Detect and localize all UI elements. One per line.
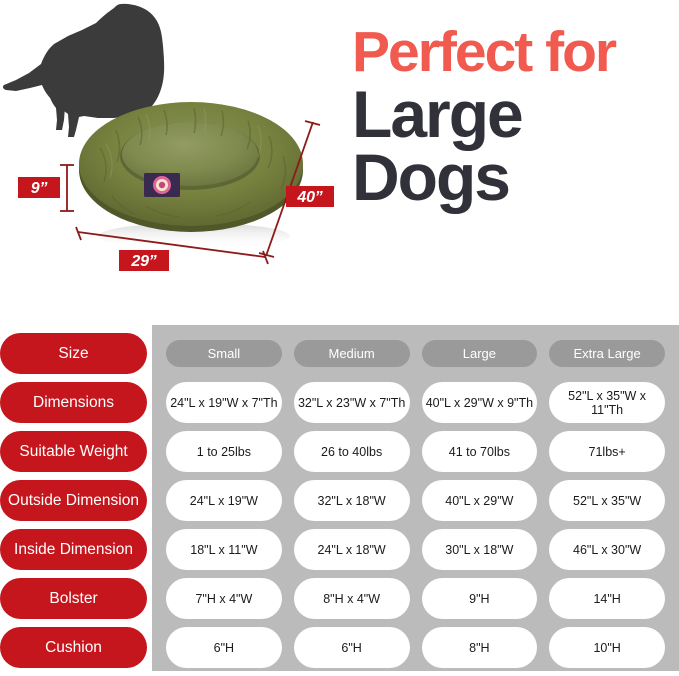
headline-block: Perfect for Large Dogs [352,26,674,208]
cell-cushion-large: 8"H [422,627,538,668]
dog-bed-product-image [76,78,306,253]
headline-line-3: Dogs [352,147,674,208]
column-header-large: Large [422,340,538,367]
cell-inside-large: 30"L x 18"W [422,529,538,570]
spec-row-suitable-weight: 1 to 25lbs 26 to 40lbs 41 to 70lbs 71lbs… [152,431,679,472]
row-label-inside-dimension: Inside Dimension [0,529,147,570]
cell-cushion-small: 6"H [166,627,282,668]
cell-inside-extra-large: 46"L x 30"W [549,529,665,570]
column-header-small: Small [166,340,282,367]
cell-weight-small: 1 to 25lbs [166,431,282,472]
cell-cushion-extra-large: 10"H [549,627,665,668]
cell-dimensions-medium: 32"L x 23"W x 7"Th [294,382,410,423]
spec-row-cushion: 6"H 6"H 8"H 10"H [152,627,679,668]
row-label-suitable-weight: Suitable Weight [0,431,147,472]
spec-value-grid: Small Medium Large Extra Large 24"L x 19… [152,333,679,676]
brand-tag-logo [143,169,181,201]
cell-outside-medium: 32"L x 18"W [294,480,410,521]
cell-bolster-large: 9"H [422,578,538,619]
callout-bed-width: 40” [286,186,334,207]
row-label-bolster: Bolster [0,578,147,619]
size-spec-table: Size Dimensions Suitable Weight Outside … [0,325,679,671]
hero-section: 9” 29” 40” Perfect for Large Dogs [0,0,679,300]
row-label-dimensions: Dimensions [0,382,147,423]
callout-bolster-height: 9” [18,177,60,198]
column-header-extra-large: Extra Large [549,340,665,367]
spec-row-outside-dimension: 24"L x 19"W 32"L x 18"W 40"L x 29"W 52"L… [152,480,679,521]
cell-bolster-small: 7"H x 4"W [166,578,282,619]
cell-inside-medium: 24"L x 18"W [294,529,410,570]
cell-bolster-extra-large: 14"H [549,578,665,619]
spec-row-inside-dimension: 18"L x 11"W 24"L x 18"W 30"L x 18"W 46"L… [152,529,679,570]
column-header-medium: Medium [294,340,410,367]
row-label-cushion: Cushion [0,627,147,668]
cell-inside-small: 18"L x 11"W [166,529,282,570]
headline-line-1: Perfect for [352,26,674,78]
cell-bolster-medium: 8"H x 4"W [294,578,410,619]
spec-row-label-column: Size Dimensions Suitable Weight Outside … [0,333,147,676]
cell-weight-large: 41 to 70lbs [422,431,538,472]
spec-header-row: Small Medium Large Extra Large [152,333,679,374]
cell-outside-extra-large: 52"L x 35"W [549,480,665,521]
cell-dimensions-extra-large: 52"L x 35"W x 11"Th [549,382,665,423]
headline-line-2: Large [352,84,674,145]
callout-bed-length: 29” [119,250,169,271]
cell-dimensions-large: 40"L x 29"W x 9"Th [422,382,538,423]
row-label-size: Size [0,333,147,374]
cell-weight-medium: 26 to 40lbs [294,431,410,472]
cell-outside-small: 24"L x 19"W [166,480,282,521]
cell-weight-extra-large: 71lbs+ [549,431,665,472]
cell-outside-large: 40"L x 29"W [422,480,538,521]
row-label-outside-dimension: Outside Dimension [0,480,147,521]
cell-cushion-medium: 6"H [294,627,410,668]
spec-row-bolster: 7"H x 4"W 8"H x 4"W 9"H 14"H [152,578,679,619]
cell-dimensions-small: 24"L x 19"W x 7"Th [166,382,282,423]
spec-row-dimensions: 24"L x 19"W x 7"Th 32"L x 23"W x 7"Th 40… [152,382,679,423]
